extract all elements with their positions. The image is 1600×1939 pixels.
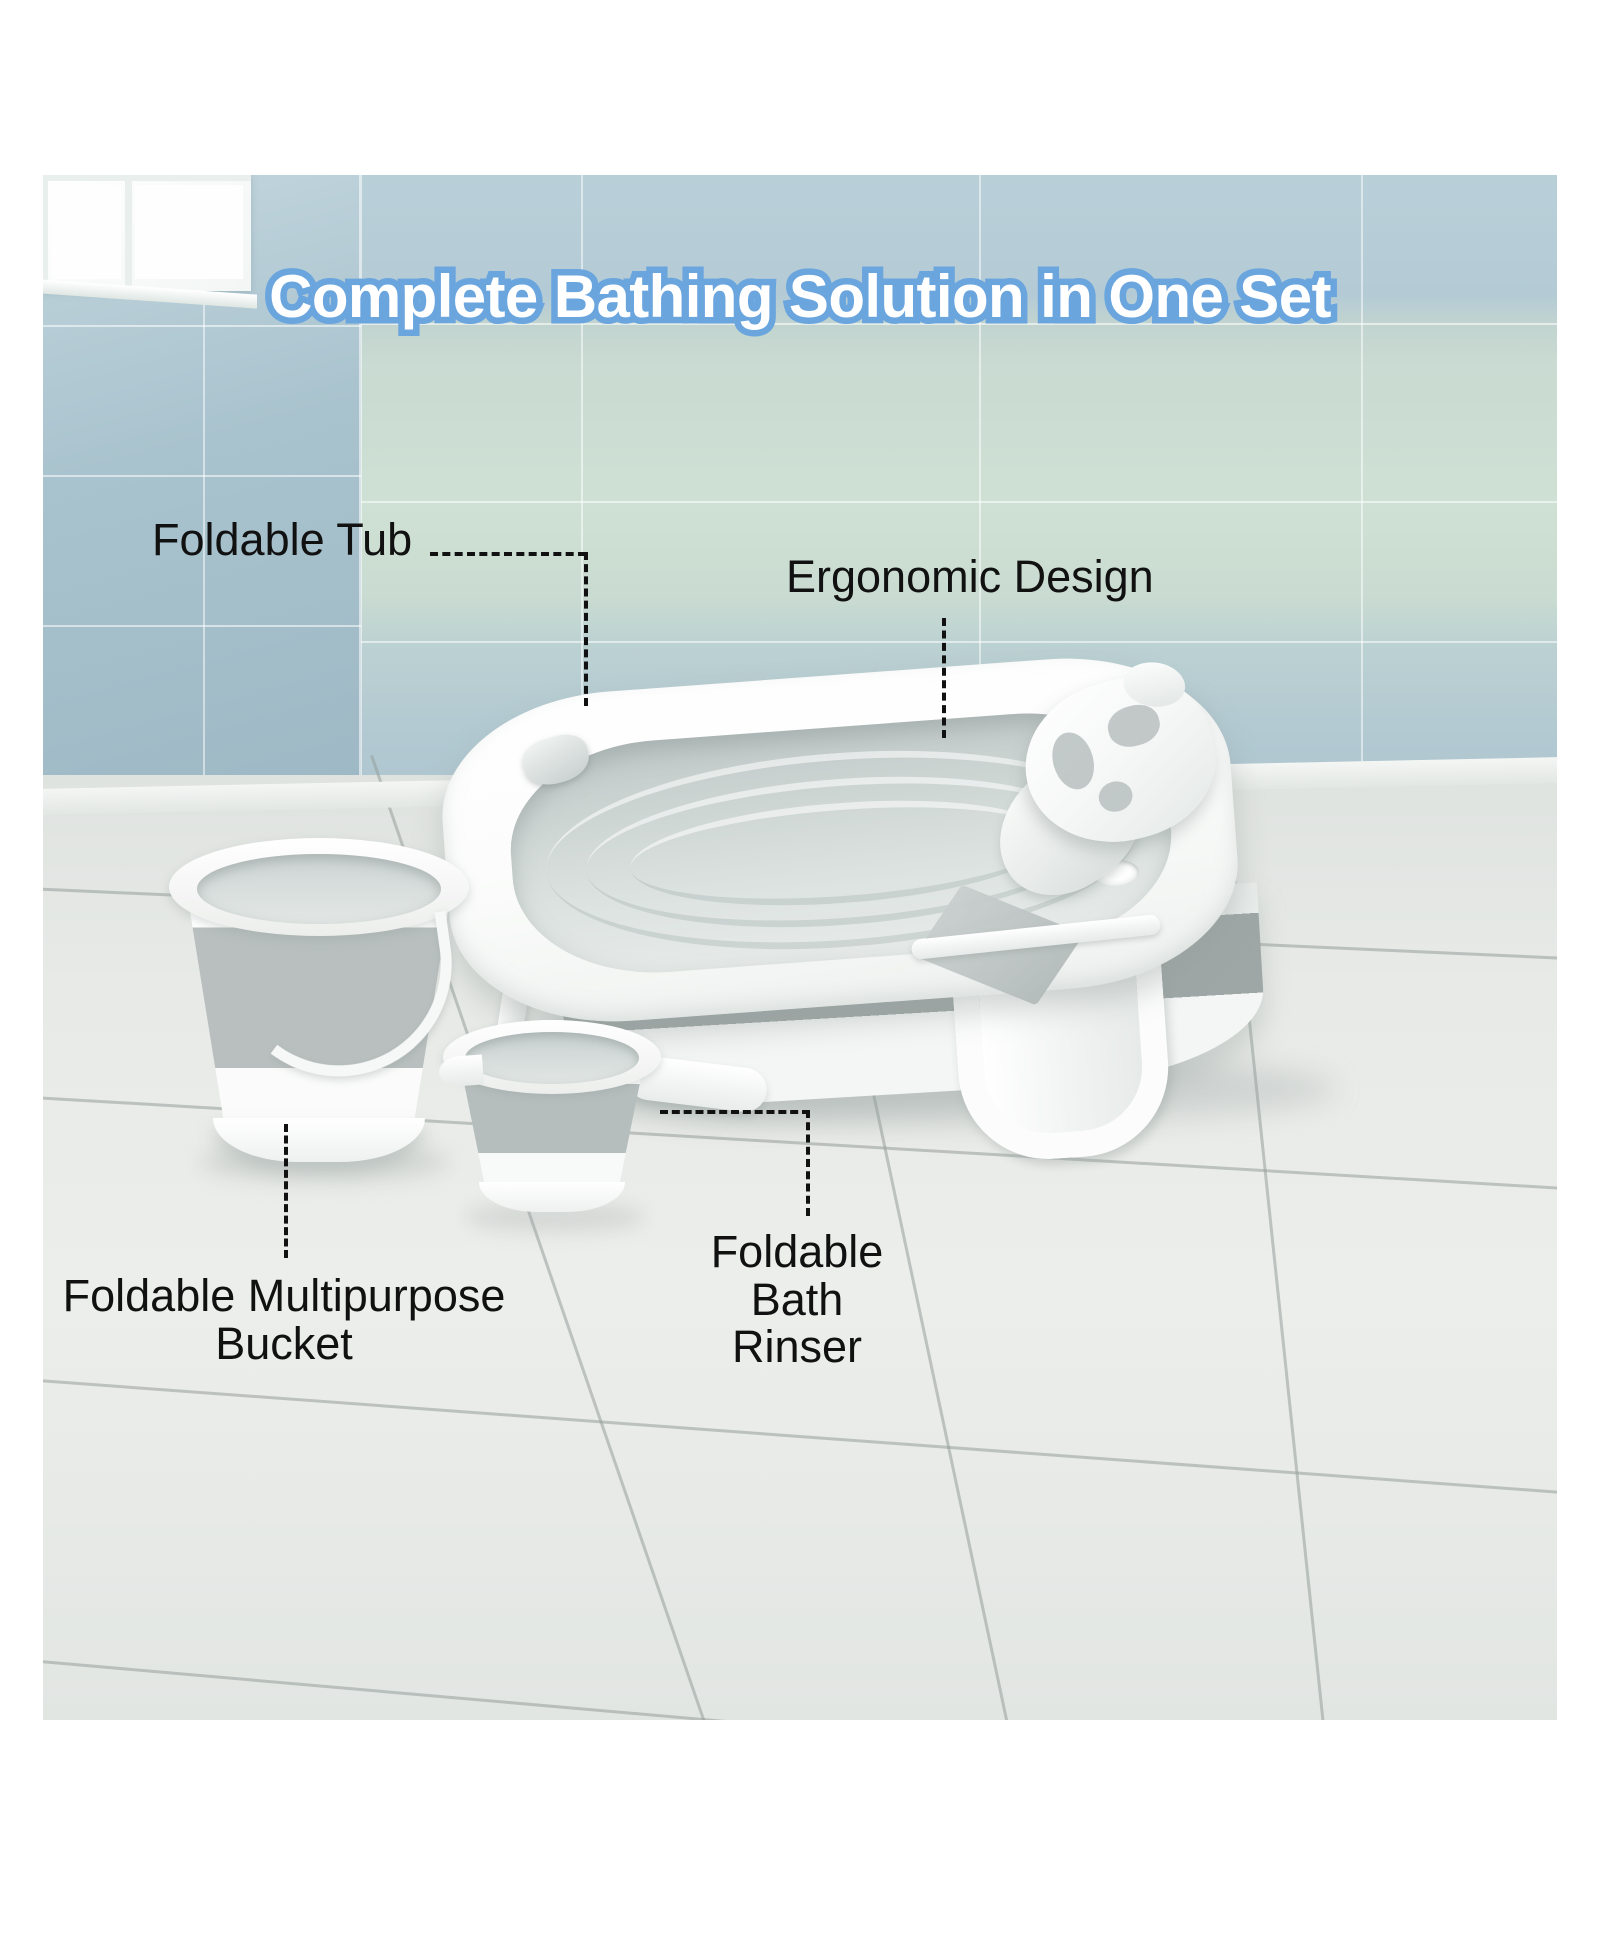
callout-foldable-tub: Foldable Tub [152, 516, 412, 564]
callout-foldable-multipurpose-bucket: Foldable Multipurpose Bucket [58, 1272, 510, 1367]
product-photo [43, 175, 1557, 1720]
foldable-bath-rinser [431, 1010, 731, 1240]
callout-bucket-line1: Foldable Multipurpose [58, 1272, 510, 1320]
page-headline: Complete Bathing Solution in One Set [0, 262, 1600, 331]
leader-line-rinser-vertical [806, 1110, 810, 1216]
leader-line-ergonomic-vertical [942, 618, 946, 738]
rinser-opening [465, 1032, 639, 1084]
callout-ergonomic-design: Ergonomic Design [786, 553, 1154, 601]
callout-rinser-line1: Foldable Bath [660, 1228, 934, 1323]
callout-foldable-bath-rinser: Foldable Bath Rinser [660, 1228, 934, 1371]
bucket-opening [197, 854, 441, 924]
callout-bucket-line2: Bucket [58, 1320, 510, 1368]
callout-rinser-line2: Rinser [660, 1323, 934, 1371]
leader-line-rinser-horizontal [660, 1110, 810, 1114]
leader-line-bucket-vertical [284, 1124, 288, 1258]
leader-line-tub-vertical [584, 552, 588, 706]
leader-line-tub-horizontal [430, 552, 586, 556]
